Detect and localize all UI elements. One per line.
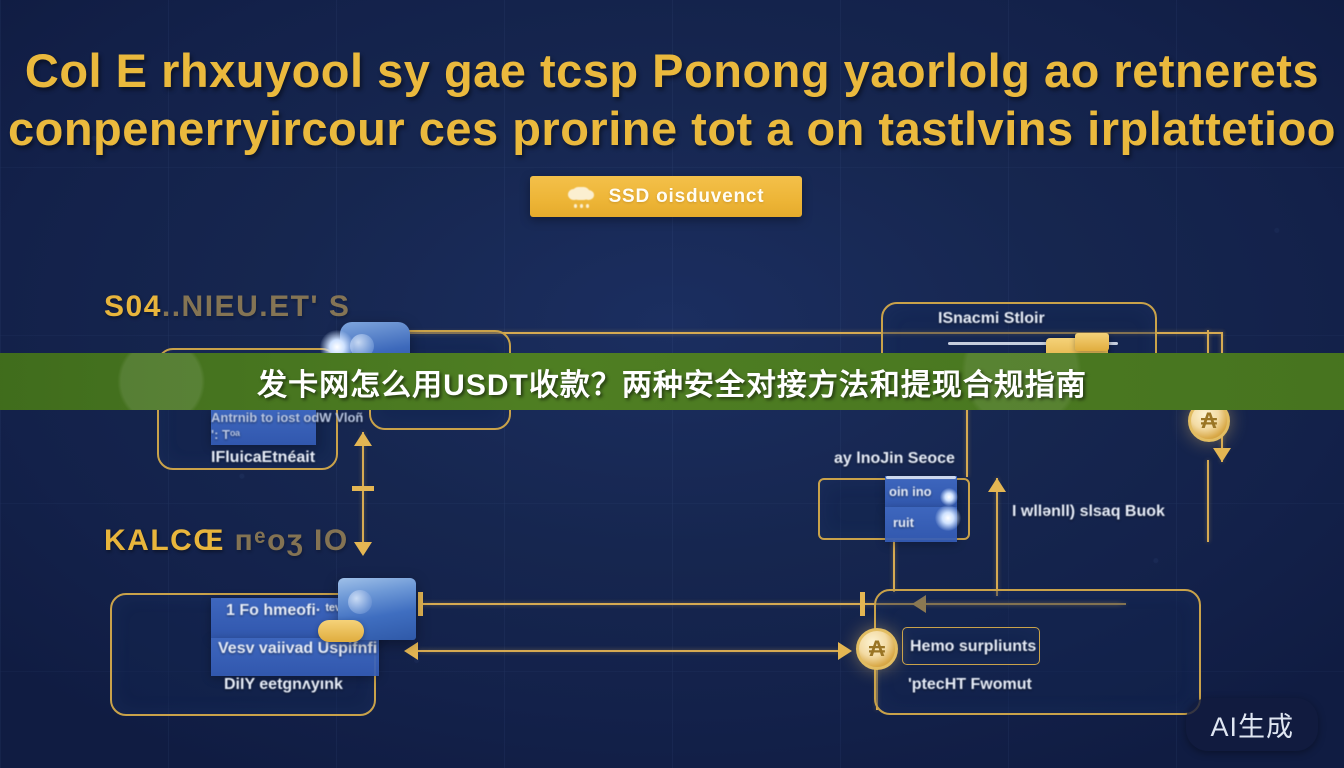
headline-line-2: conpenerryircour ces prorine tot a on ta…	[0, 100, 1344, 158]
box-d-title: ay lnoJin Seoce	[834, 450, 955, 468]
connector-right-drop-2	[1207, 330, 1209, 354]
box-d-divider	[886, 476, 956, 479]
server-lens-left	[348, 590, 372, 614]
box-f-row-2: 'ptecHT Fwomut	[908, 676, 1032, 694]
arrow-down-left	[354, 542, 372, 556]
box-a-caption: IFluicaEtnéait	[211, 449, 315, 467]
box-a-panel-line-1: Antrnib to iost odW Vloñ	[211, 410, 363, 425]
box-a-panel-line-2: ': Tᵒᵃ	[211, 427, 240, 442]
badge-label: SSD oisduvenct	[609, 186, 765, 208]
box-c-title: ISnacmi Stloir	[938, 310, 1045, 328]
coin-icon-bottom: ₳	[856, 628, 898, 670]
section-label-b: KALCŒ ᴨᵉᴏʒ IO	[104, 524, 349, 558]
glow-highlight-mid	[935, 505, 961, 531]
box-d-row-2: ruit	[893, 515, 914, 530]
connector-cap-1	[352, 486, 374, 491]
banner-title-text: 发卡网怎么用USDT收款？两种安全对接方法和提现合规指南	[257, 360, 1087, 404]
status-badge: SSD oisduvenct	[530, 176, 802, 217]
section-a-text: S04	[104, 290, 162, 323]
connector-boxd-drop	[893, 540, 895, 592]
connector-coin-vertical	[996, 478, 998, 596]
gold-chip-top-right-2	[1075, 333, 1109, 351]
connector-cap-2	[418, 592, 423, 616]
section-label-a: S04..NIEU.ET' S	[104, 290, 350, 324]
box-d-row-1: oin ino	[889, 484, 932, 499]
box-f-row-1: Hemo surpliunts	[910, 638, 1036, 656]
connector-vertical-left	[362, 432, 364, 550]
ai-watermark: AI生成	[1186, 698, 1318, 751]
glow-highlight-mid-2	[940, 488, 958, 506]
arrow-right-low	[838, 642, 852, 660]
title-banner: 发卡网怎么用USDT收款？两种安全对接方法和提现合规指南	[0, 353, 1344, 410]
connector-right-vertical	[1207, 460, 1209, 542]
connector-boxc-drop	[966, 405, 968, 477]
arrow-up-left	[354, 432, 372, 446]
mid-right-note: I wllənll) slsaq Buok	[1012, 503, 1165, 521]
page-title: Col E rhxuyool sy gae tcsp Ponong yaorlo…	[0, 42, 1344, 158]
section-a-subtext: ..NIEU.ET' S	[162, 290, 351, 323]
connector-low-rail	[418, 650, 848, 652]
box-e-caption: DiIY eetgnʌyınk	[224, 676, 343, 694]
section-b-text: KALCŒ	[104, 524, 225, 557]
cloud-icon	[568, 186, 596, 208]
gold-chip-left	[318, 620, 364, 642]
box-e-row-2: Vesv vaiivad Uspifnfi	[218, 640, 377, 658]
image-canvas: Col E rhxuyool sy gae tcsp Ponong yaorlo…	[0, 0, 1344, 768]
section-b-subtext: ᴨᵉᴏʒ IO	[225, 524, 349, 557]
arrow-up-coin	[988, 478, 1006, 492]
connector-cap-3	[860, 592, 865, 616]
box-e-row-1: 1 Fo hmeofi· ᵗᵉᵛ!'	[226, 602, 350, 620]
arrow-down-right-rail	[1213, 448, 1231, 462]
headline-line-1: Col E rhxuyool sy gae tcsp Ponong yaorlo…	[25, 44, 1319, 97]
arrow-left-low	[404, 642, 418, 660]
